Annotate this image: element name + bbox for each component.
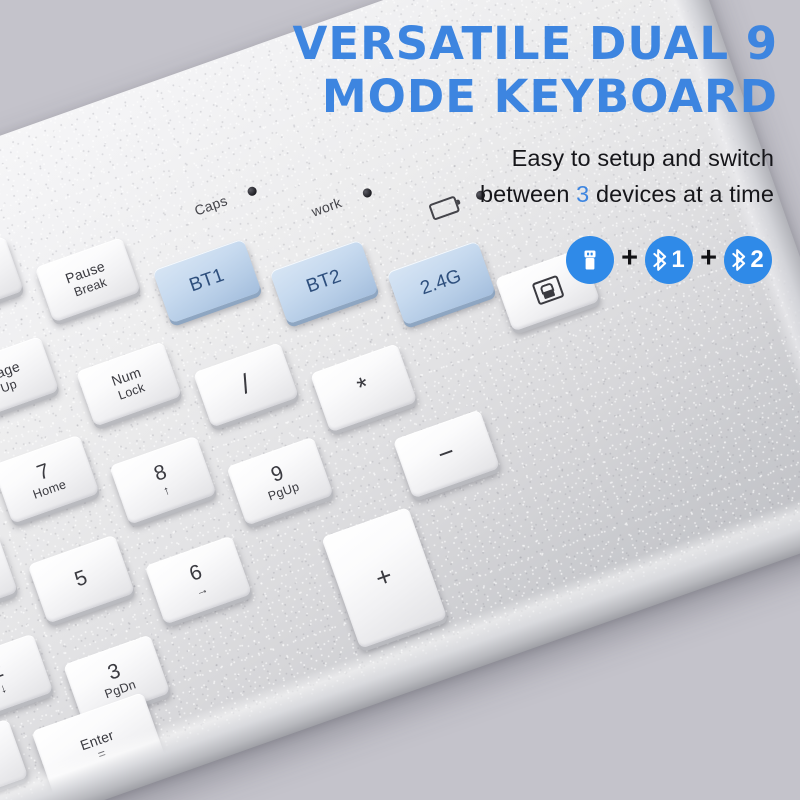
key-page-up[interactable]: Page Up — [0, 336, 59, 421]
key-sublabel: PgUp — [267, 481, 301, 504]
plus-separator-2: + — [700, 244, 717, 276]
badge-usb-dongle — [566, 236, 614, 284]
key-label: * — [354, 373, 373, 403]
key-num6[interactable]: 6 → — [145, 535, 252, 624]
key-plus[interactable]: + — [321, 507, 447, 649]
key-sublabel: Home — [32, 478, 68, 501]
key-multiply[interactable]: * — [310, 343, 417, 432]
key-num5[interactable]: 5 — [28, 534, 135, 623]
bluetooth-icon — [653, 247, 670, 273]
key-num9[interactable]: 9 PgUp — [226, 437, 333, 526]
key-bt1[interactable]: BT1 — [152, 239, 261, 324]
marketing-headline: VERSATILE DUAL 9 MODE KEYBOARD — [238, 18, 778, 123]
indicator-led-caps — [246, 186, 257, 197]
key-label: 8 — [151, 461, 169, 485]
key-sublabel: ↓ — [0, 682, 9, 696]
product-marketing-image: Delete ⬅ kSpace Prt Scr Sys Rq Scroll Lo… — [0, 0, 800, 800]
bluetooth-icon — [732, 247, 749, 273]
key-sublabel: → — [194, 583, 210, 599]
headline-line-1: VERSATILE DUAL 9 — [293, 17, 778, 70]
key-sublabel: = — [96, 746, 108, 761]
headline-line-2: MODE KEYBOARD — [238, 71, 778, 124]
key-num4[interactable]: 4 ← — [0, 533, 18, 622]
key-label: 2.4G — [418, 267, 464, 299]
key-divide[interactable]: / — [193, 342, 299, 427]
usb-dongle-icon — [577, 247, 603, 273]
bluetooth-channel-number: 2 — [750, 248, 763, 272]
key-label: 3 — [105, 660, 123, 684]
badge-bluetooth-2: 2 — [724, 236, 772, 284]
subtitle-line-1: Easy to setup and switch — [274, 140, 774, 176]
key-num2[interactable]: 2 ↓ — [0, 633, 53, 722]
key-num-lock[interactable]: Num Lock — [76, 341, 182, 426]
plus-separator-1: + — [621, 244, 638, 276]
key-enter[interactable]: Enter = — [31, 692, 167, 800]
key-minus[interactable]: − — [393, 409, 500, 498]
key-24g[interactable]: 2.4G — [386, 241, 495, 326]
bluetooth-channel-number: 1 — [671, 248, 684, 272]
key-num8[interactable]: 8 ↑ — [109, 436, 216, 525]
key-label: 5 — [72, 567, 90, 591]
key-decimal[interactable]: . Del — [0, 719, 28, 800]
subtitle-line-2-after: devices at a time — [589, 181, 774, 207]
key-pause-break[interactable]: Pause Break — [35, 237, 141, 322]
screen-lock-icon — [531, 274, 564, 305]
key-label: 2 — [0, 659, 6, 683]
key-label: − — [434, 438, 458, 469]
key-num7[interactable]: 7 Home — [0, 435, 100, 524]
key-sublabel: Up — [0, 378, 19, 395]
subtitle-line-2-before: between — [480, 181, 576, 207]
key-label: 9 — [268, 462, 286, 486]
marketing-subtitle: Easy to setup and switch between 3 devic… — [274, 140, 774, 213]
indicator-label-caps: Caps — [192, 192, 229, 218]
key-label: + — [372, 562, 396, 593]
key-scroll-lock[interactable]: Scroll Lock — [0, 236, 24, 321]
subtitle-line-2: between 3 devices at a time — [274, 176, 774, 212]
key-label: / — [238, 371, 254, 400]
key-label: 6 — [187, 561, 205, 585]
subtitle-device-count: 3 — [576, 181, 589, 207]
key-sublabel: ↑ — [162, 484, 172, 498]
key-bt2[interactable]: BT2 — [269, 240, 378, 325]
key-label: BT2 — [304, 267, 344, 297]
connection-badge-row: + 1 + 2 — [566, 236, 772, 284]
key-label: 7 — [34, 460, 52, 484]
key-label: BT1 — [187, 266, 227, 296]
badge-bluetooth-1: 1 — [645, 236, 693, 284]
